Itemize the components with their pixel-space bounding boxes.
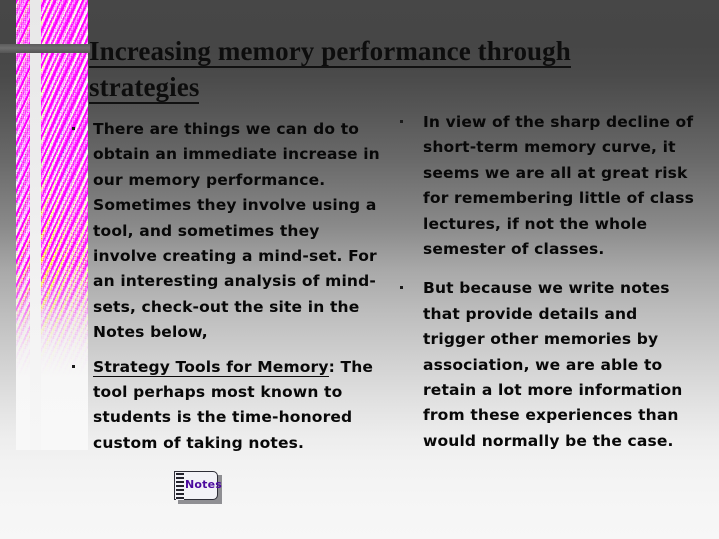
left-text-column: There are things we can do to obtain an … xyxy=(66,117,386,465)
title-line-1: Increasing memory performance through xyxy=(89,36,571,68)
slide-canvas: Increasing memory performance through st… xyxy=(0,0,719,539)
list-item: There are things we can do to obtain an … xyxy=(66,117,386,346)
bullet-dot-icon xyxy=(400,286,403,289)
list-item: In view of the sharp decline of short-te… xyxy=(394,110,694,262)
horizontal-gray-bar xyxy=(0,44,90,53)
bullet-dot-icon xyxy=(72,365,75,368)
list-item: But because we write notes that provide … xyxy=(394,276,694,454)
vertical-light-band xyxy=(30,0,41,450)
bullet-dot-icon xyxy=(72,127,75,130)
bullet-text: There are things we can do to obtain an … xyxy=(93,120,380,341)
slide-title: Increasing memory performance through st… xyxy=(89,33,689,105)
bullet-text: But because we write notes that provide … xyxy=(423,279,683,449)
bullet-dot-icon xyxy=(400,120,403,123)
title-line-2: strategies xyxy=(89,72,199,104)
notes-object[interactable]: Notes xyxy=(174,471,220,502)
bullet-lead-underlined: Strategy Tools for Memory xyxy=(93,358,329,377)
bullet-text: In view of the sharp decline of short-te… xyxy=(423,113,694,258)
right-text-column: In view of the sharp decline of short-te… xyxy=(394,110,694,468)
spiral-binding-icon xyxy=(176,473,184,500)
list-item: Strategy Tools for Memory: The tool perh… xyxy=(66,355,386,457)
notes-label: Notes xyxy=(185,478,217,491)
